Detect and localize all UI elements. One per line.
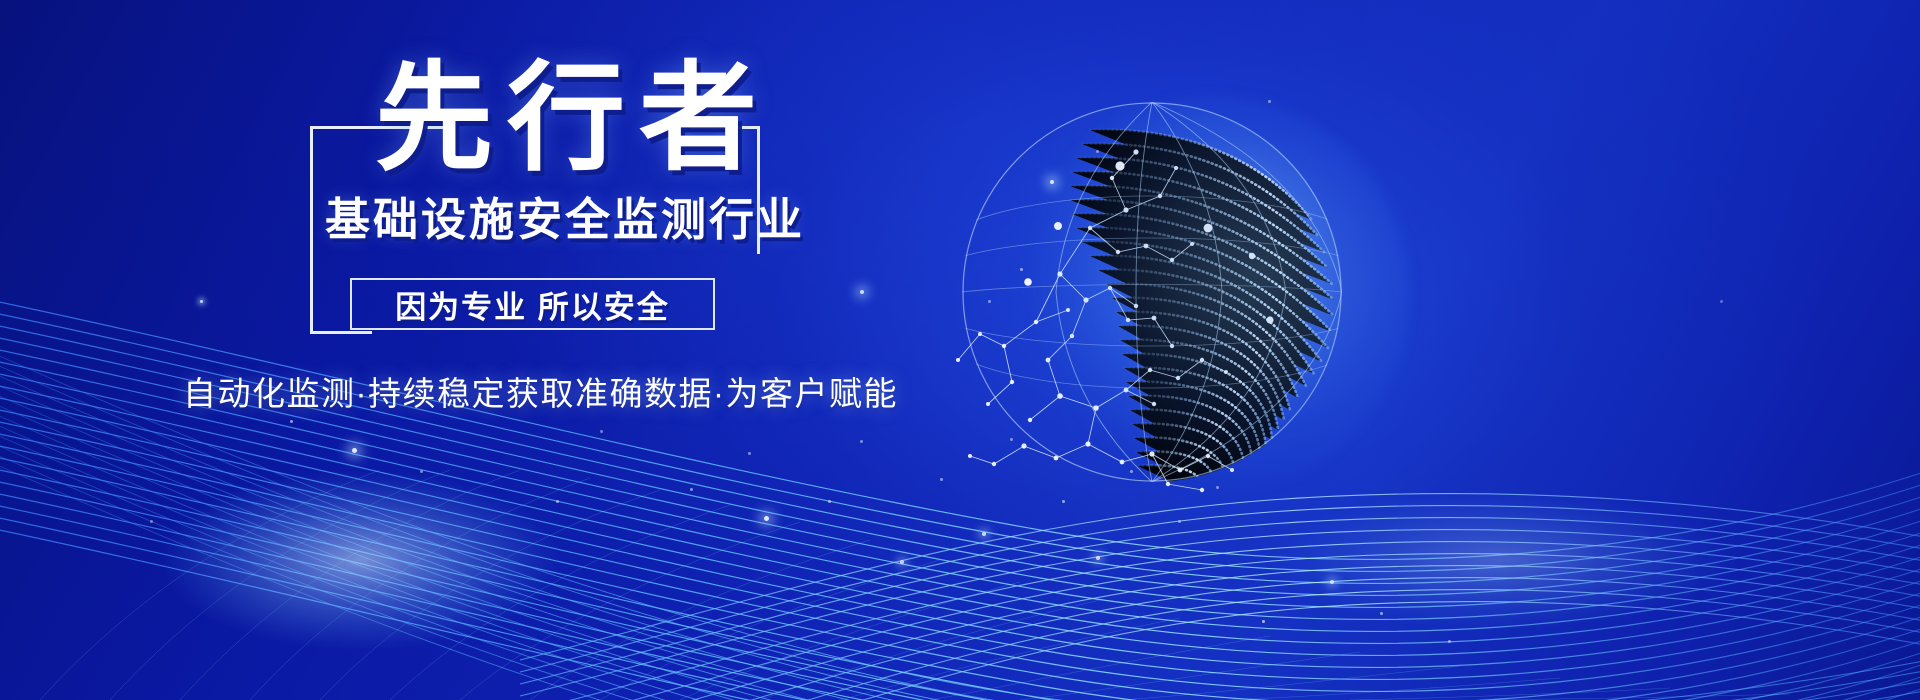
particle [982, 532, 986, 536]
particle [1262, 620, 1265, 623]
particle [1050, 180, 1054, 184]
particle [150, 520, 153, 523]
particle [988, 300, 991, 303]
particle [1268, 100, 1271, 103]
particle [1216, 486, 1219, 489]
particle [940, 478, 943, 481]
particle [1096, 150, 1099, 153]
particle [556, 500, 559, 503]
hero-banner: 先行者 基础设施安全监测行业 因为专业 所以安全 自动化监测·持续稳定获取准确数… [0, 0, 1920, 700]
particle [1448, 640, 1451, 643]
particle [420, 470, 423, 473]
slogan-box: 因为专业 所以安全 [350, 278, 715, 330]
particle [600, 430, 603, 433]
particle [900, 560, 904, 564]
particle [860, 440, 863, 443]
particle [690, 488, 693, 491]
wave-mesh-graphic [0, 0, 1920, 700]
particle [1380, 612, 1383, 615]
tagline: 自动化监测·持续稳定获取准确数据·为客户赋能 [183, 372, 898, 416]
page-title: 先行者 [375, 60, 815, 178]
particle [200, 300, 203, 303]
particle [1178, 520, 1181, 523]
star-particles [0, 0, 1920, 700]
particle [748, 452, 751, 455]
frame-line-bottom [310, 331, 372, 334]
frame-line-vertical [310, 126, 313, 334]
particle [1062, 500, 1065, 503]
particle [1330, 580, 1334, 584]
headline-group: 先行者 基础设施安全监测行业 因为专业 所以安全 [295, 60, 795, 360]
particle [1010, 438, 1013, 441]
particle [352, 448, 357, 453]
particle [764, 516, 769, 521]
globe-glow [1010, 95, 1410, 495]
page-subtitle: 基础设施安全监测行业 [325, 194, 795, 246]
particle [1096, 556, 1100, 560]
particle [828, 500, 831, 503]
particle [290, 420, 293, 423]
particle [1130, 470, 1133, 473]
slogan-text: 因为专业 所以安全 [395, 282, 670, 327]
particle [860, 290, 864, 294]
particle [1720, 300, 1723, 303]
wireframe-globe-icon [940, 60, 1380, 530]
particle [1020, 268, 1023, 271]
